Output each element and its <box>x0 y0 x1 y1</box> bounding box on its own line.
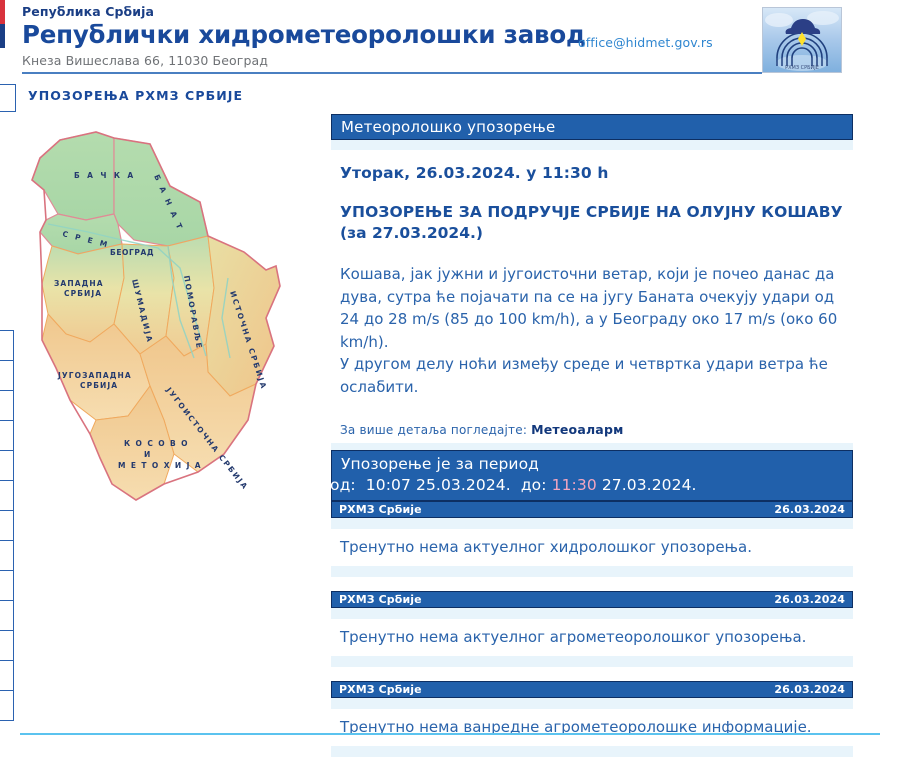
serbia-regions-map[interactable]: Б А Ч К А Б А Н А Т С Р Е М БЕОГРАД ЗАПА… <box>18 128 318 528</box>
notice-gap <box>331 667 853 681</box>
period-to-date: 27.03.2024. <box>602 476 697 494</box>
notice-source: РХМЗ Србије <box>339 683 422 696</box>
notice-date: 26.03.2024 <box>774 593 845 606</box>
notice-hydrological: РХМЗ Србије 26.03.2024 Тренутно нема акт… <box>331 501 853 577</box>
warning-period-title: Упозорење је за период <box>332 454 852 475</box>
period-to-label: до: <box>521 476 547 494</box>
notice-stripe <box>331 608 853 619</box>
warning-headline: УПОЗОРЕЊЕ ЗА ПОДРУЧЈЕ СРБИЈЕ НА ОЛУЈНУ К… <box>340 182 853 223</box>
serbian-flag-stripe-icon <box>0 0 5 72</box>
notice-gap <box>331 577 853 591</box>
notice-agrometeorological-extraordinary: РХМЗ Србије 26.03.2024 Тренутно нема ван… <box>331 681 853 757</box>
sidebar-menu-item[interactable] <box>0 630 14 660</box>
notice-date: 26.03.2024 <box>774 683 845 696</box>
notice-source: РХМЗ Србије <box>339 503 422 516</box>
notice-stripe <box>331 698 853 709</box>
sidebar-menu-stack[interactable] <box>0 330 14 721</box>
warning-subheadline: (за 27.03.2024.) <box>340 223 853 244</box>
warning-period-range: од: 10:07 25.03.2024. до: 11:30 27.03.20… <box>330 475 852 496</box>
panel-stripe <box>331 140 853 150</box>
notice-stripe-bottom <box>331 656 853 667</box>
notice-source: РХМЗ Србије <box>339 593 422 606</box>
notice-stripe <box>331 518 853 529</box>
period-from-time: 10:07 <box>366 476 411 494</box>
meteo-warning-body: Уторак, 26.03.2024. у 11:30 h УПОЗОРЕЊЕ … <box>331 150 853 443</box>
more-details-prefix: За више детаља погледајте: <box>340 423 527 437</box>
header-text-block: Република Србија Републички хидрометеоро… <box>22 4 586 69</box>
sidebar-menu-item[interactable] <box>0 660 14 690</box>
footer-divider <box>20 733 880 735</box>
sidebar-menu-item[interactable] <box>0 330 14 360</box>
sidebar-menu-item[interactable] <box>0 570 14 600</box>
institute-address: Кнеза Вишеслава 66, 11030 Београд <box>22 53 586 69</box>
warning-issued-datetime: Уторак, 26.03.2024. у 11:30 h <box>340 150 853 182</box>
header-divider <box>22 72 762 74</box>
warning-paragraph-2: У другом делу ноћи између среде и четврт… <box>340 353 853 398</box>
sidebar-menu-item[interactable] <box>0 480 14 510</box>
notice-text: Тренутно нема ванредне агрометеоролошке … <box>331 709 853 746</box>
more-details-line: За више детаља погледајте: Метеоаларм <box>340 398 853 443</box>
notice-header: РХМЗ Србије 26.03.2024 <box>331 591 853 608</box>
notice-date: 26.03.2024 <box>774 503 845 516</box>
sidebar-menu-item[interactable] <box>0 450 14 480</box>
sidebar-menu-item[interactable] <box>0 510 14 540</box>
sidebar-menu-item[interactable] <box>0 390 14 420</box>
notice-header: РХМЗ Србије 26.03.2024 <box>331 501 853 518</box>
page-header: Република Србија Републички хидрометеоро… <box>0 0 900 80</box>
period-to-time: 11:30 <box>552 476 597 494</box>
period-from-label: од: <box>330 476 356 494</box>
notice-stripe-bottom <box>331 746 853 757</box>
notice-text: Тренутно нема актуелног агрометеоролошко… <box>331 619 853 656</box>
notice-stripe-bottom <box>331 566 853 577</box>
institute-title: Републички хидрометеоролошки завод <box>22 20 586 50</box>
map-label-beograd: БЕОГРАД <box>110 248 154 257</box>
warnings-content-column: Метеоролошко упозорење Уторак, 26.03.202… <box>331 114 853 757</box>
notice-text: Тренутно нема актуелног хидролошког упоз… <box>331 529 853 566</box>
notice-header: РХМЗ Србије 26.03.2024 <box>331 681 853 698</box>
sidebar-menu-item[interactable] <box>0 540 14 570</box>
svg-text:РХМЗ СРБИЈЕ: РХМЗ СРБИЈЕ <box>785 65 819 71</box>
warning-paragraph-1: Кошава, јак јужни и југоисточни ветар, к… <box>340 263 853 353</box>
warning-period-bar: Упозорење је за период од: 10:07 25.03.2… <box>331 450 853 501</box>
sidebar-menu-item[interactable] <box>0 600 14 630</box>
contact-email-link[interactable]: office@hidmet.gov.rs <box>578 35 713 50</box>
sidebar-frame-top[interactable] <box>0 84 16 112</box>
country-line: Република Србија <box>22 4 586 19</box>
warning-body-text: Кошава, јак јужни и југоисточни ветар, к… <box>340 244 853 398</box>
meteo-warning-panel-title: Метеоролошко упозорење <box>331 114 853 140</box>
sidebar-menu-item[interactable] <box>0 420 14 450</box>
pre-period-stripe <box>331 443 853 450</box>
rhmz-logo-icon: РХМЗ СРБИЈЕ <box>762 7 842 73</box>
sidebar-menu-item[interactable] <box>0 360 14 390</box>
notice-agrometeorological: РХМЗ Србије 26.03.2024 Тренутно нема акт… <box>331 591 853 667</box>
period-from-date: 25.03.2024. <box>416 476 511 494</box>
meteoalarm-link[interactable]: Метеоаларм <box>531 422 623 437</box>
sidebar-menu-item[interactable] <box>0 690 14 721</box>
section-label: УПОЗОРЕЊА РХМЗ СРБИЈЕ <box>28 88 243 103</box>
map-label-backa: Б А Ч К А <box>74 171 136 180</box>
